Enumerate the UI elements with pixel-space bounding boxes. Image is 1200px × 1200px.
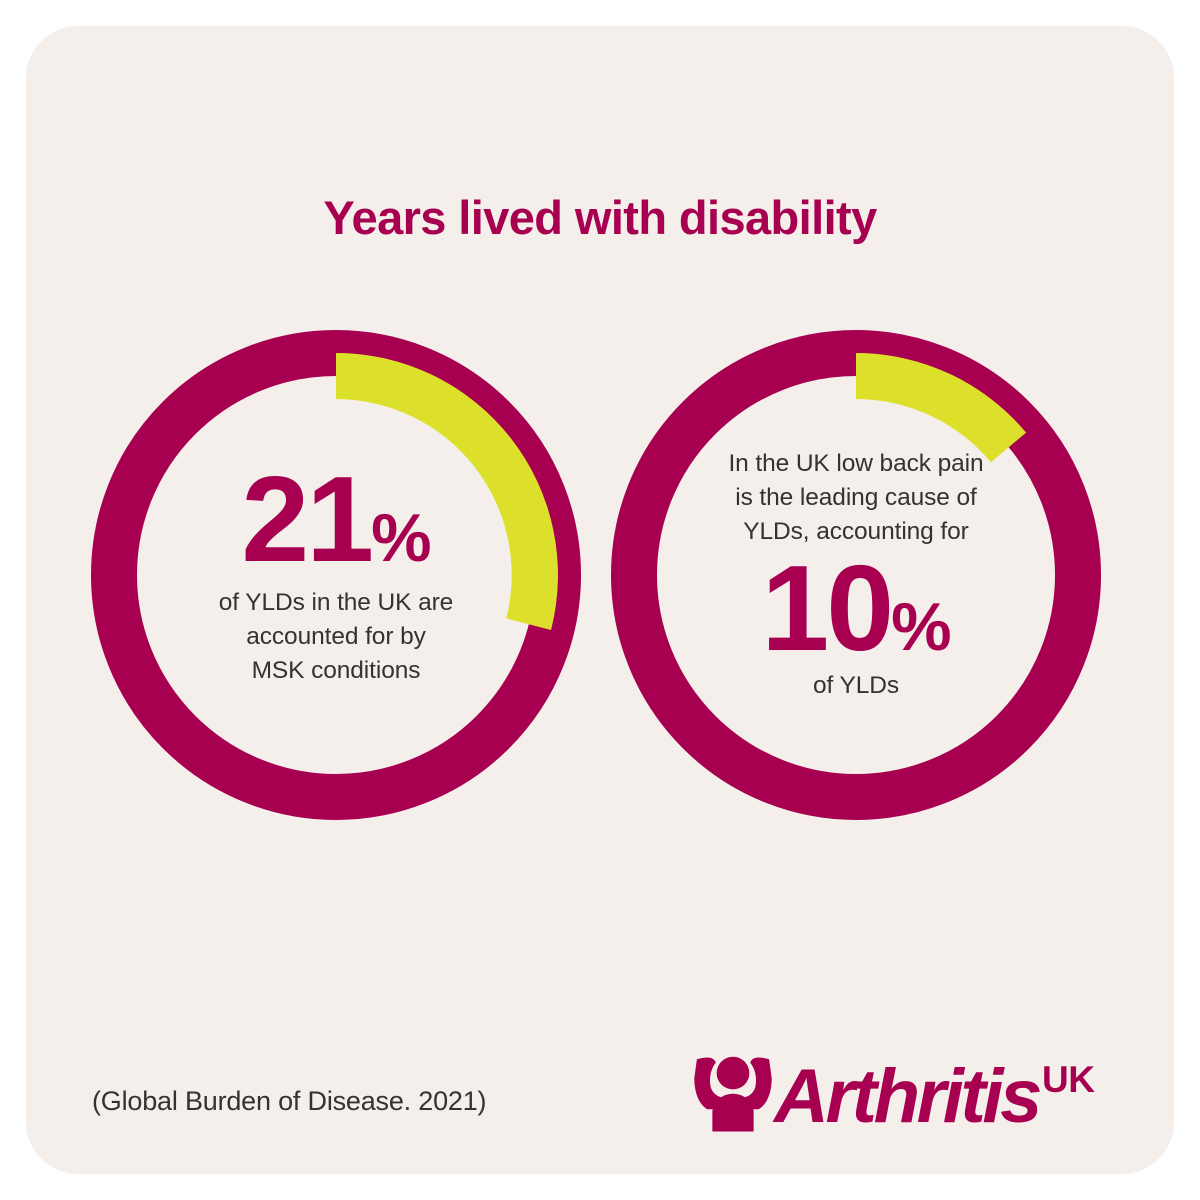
donut-a-caption: of YLDs in the UK are accounted for by M… [186, 586, 486, 688]
donut-b-center: In the UK low back pain is the leading c… [683, 402, 1029, 748]
donut-a-caption-line-3: MSK conditions [186, 654, 486, 688]
donut-a-number: 21 [241, 451, 371, 587]
logo-wordmark: Arthritis UK [774, 1059, 1094, 1135]
donut-b-lead-line-2: is the leading cause of [701, 481, 1011, 515]
infographic-root: Years lived with disability 21% of YLDs … [0, 0, 1200, 1200]
donut-b-number: 10 [761, 540, 891, 676]
donut-b-percent-sign: % [891, 589, 950, 665]
donut-chart-low-back-pain: In the UK low back pain is the leading c… [611, 330, 1101, 820]
donut-b-lead-line-1: In the UK low back pain [701, 447, 1011, 481]
logo-word-arthritis: Arthritis [774, 1059, 1039, 1135]
donut-a-percent-sign: % [371, 500, 430, 576]
donut-a-caption-line-2: accounted for by [186, 620, 486, 654]
person-raised-arms-icon [690, 1049, 776, 1135]
page-title: Years lived with disability [0, 190, 1200, 245]
logo-word-uk: UK [1042, 1061, 1094, 1098]
brand-logo[interactable]: Arthritis UK [690, 1030, 1094, 1135]
donut-b-lead-text: In the UK low back pain is the leading c… [701, 447, 1011, 549]
donut-b-sub-text: of YLDs [813, 669, 899, 703]
donut-chart-msk: 21% of YLDs in the UK are accounted for … [91, 330, 581, 820]
source-citation: (Global Burden of Disease. 2021) [92, 1086, 486, 1117]
donut-a-stat: 21% [241, 462, 430, 577]
donut-a-center: 21% of YLDs in the UK are accounted for … [163, 402, 509, 748]
donut-a-caption-line-1: of YLDs in the UK are [186, 586, 486, 620]
donut-b-stat: 10% [761, 551, 950, 666]
